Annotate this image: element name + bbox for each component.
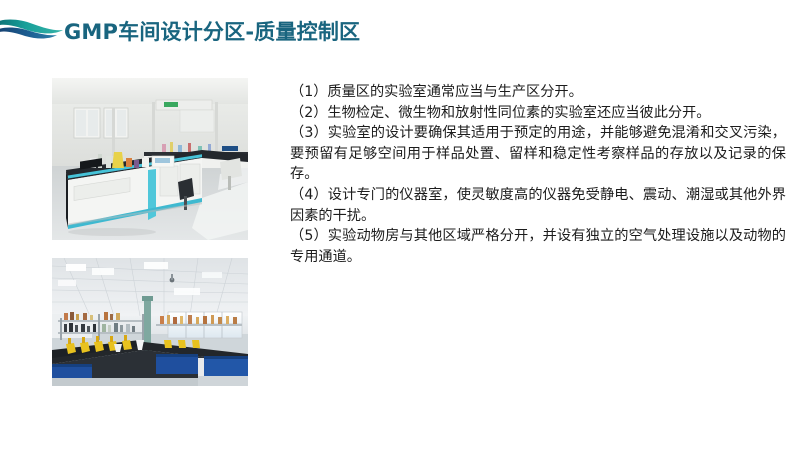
page-title: GMP车间设计分区-质量控制区 <box>64 18 360 46</box>
content-paragraph-1: （1）质量区的实验室通常应当与生产区分开。 <box>290 82 786 103</box>
slide-root: GMP车间设计分区-质量控制区 <box>0 0 800 450</box>
lab-photo-instrument-room <box>52 258 248 386</box>
content-text-block: （1）质量区的实验室通常应当与生产区分开。 （2）生物检定、微生物和放射性同位素… <box>290 82 786 267</box>
lab-photo-quality-control-bench <box>52 78 248 240</box>
content-paragraph-2: （2）生物检定、微生物和放射性同位素的实验室还应当彼此分开。 <box>290 103 786 124</box>
content-paragraph-4: （4）设计专门的仪器室，使灵敏度高的仪器免受静电、震动、潮湿或其他外界因素的干扰… <box>290 185 786 226</box>
content-paragraph-5: （5）实验动物房与其他区域严格分开，并设有独立的空气处理设施以及动物的专用通道。 <box>290 226 786 267</box>
wave-swoosh-icon <box>0 11 64 47</box>
slide-header: GMP车间设计分区-质量控制区 <box>0 0 800 62</box>
content-paragraph-3: （3）实验室的设计要确保其适用于预定的用途，并能够避免混淆和交叉污染，要预留有足… <box>290 123 786 185</box>
